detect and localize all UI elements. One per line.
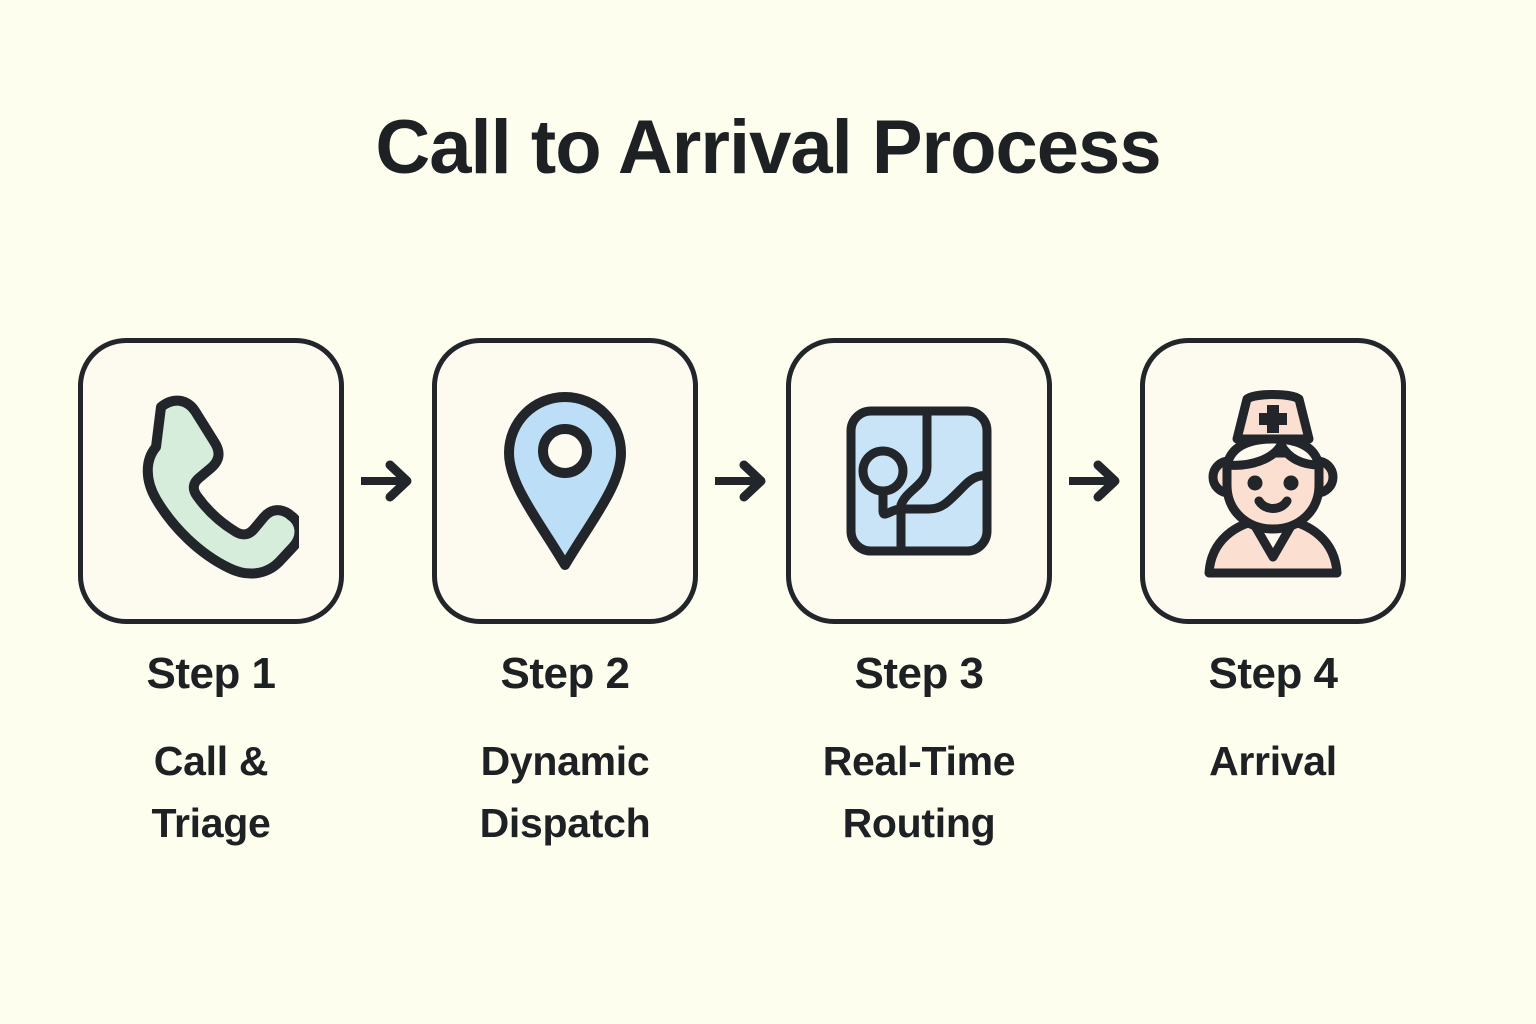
step-label-3: Step 3 Real-Time Routing <box>786 652 1052 855</box>
step-number-4: Step 4 <box>1140 652 1406 696</box>
arrow-right-icon-3 <box>1067 454 1125 508</box>
nurse-icon <box>1185 381 1361 581</box>
step-card-3[interactable] <box>786 338 1052 624</box>
step-number-2: Step 2 <box>432 652 698 696</box>
map-pin-icon <box>477 381 653 581</box>
label-spacer <box>359 652 417 855</box>
label-spacer <box>713 652 771 855</box>
step-name-3: Real-Time Routing <box>786 730 1052 855</box>
page-title: Call to Arrival Process <box>0 104 1536 191</box>
step-number-3: Step 3 <box>786 652 1052 696</box>
step-labels-row: Step 1 Call & Triage Step 2 Dynamic Disp… <box>78 652 1406 855</box>
arrow-right-icon-1 <box>359 454 417 508</box>
step-name-1: Call & Triage <box>78 730 344 855</box>
label-spacer <box>1067 652 1125 855</box>
step-label-4: Step 4 Arrival <box>1140 652 1406 855</box>
step-name-2: Dynamic Dispatch <box>432 730 698 855</box>
step-card-1[interactable] <box>78 338 344 624</box>
step-label-1: Step 1 Call & Triage <box>78 652 344 855</box>
route-map-icon <box>831 381 1007 581</box>
step-card-4[interactable] <box>1140 338 1406 624</box>
step-name-4: Arrival <box>1140 730 1406 792</box>
step-label-2: Step 2 Dynamic Dispatch <box>432 652 698 855</box>
phone-handset-icon <box>123 381 299 581</box>
step-number-1: Step 1 <box>78 652 344 696</box>
step-card-2[interactable] <box>432 338 698 624</box>
process-flow-row <box>78 338 1406 624</box>
infographic-canvas: Call to Arrival Process <box>0 0 1536 1024</box>
arrow-right-icon-2 <box>713 454 771 508</box>
